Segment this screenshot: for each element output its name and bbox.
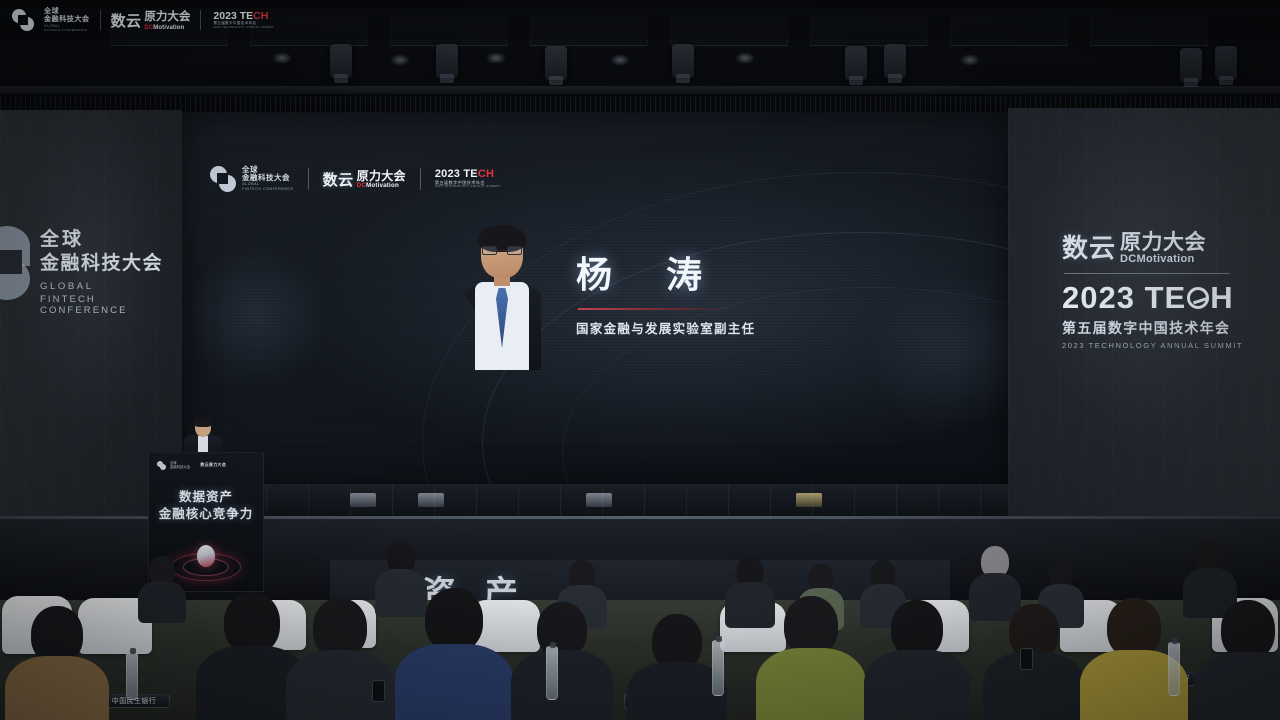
- gfc-logo-icon: [157, 461, 166, 470]
- broadcast-header-bug: 全球 金融科技大会 GLOBAL FINTECH CONFERENCE 数云 原…: [0, 0, 1280, 40]
- bezel-lamp: [586, 493, 612, 507]
- torso: [983, 652, 1085, 720]
- header-tech-logo: 2023 TECH 第五届数字中国技术年会 2023 TECHNOLOGY AN…: [213, 11, 274, 29]
- ceiling-lamp-glow: [390, 54, 410, 66]
- speaker-title: 国家金融与发展实验室副主任: [576, 318, 755, 337]
- screen-tech-year: 2023 TE: [435, 168, 478, 180]
- speaker-hair: [194, 417, 212, 427]
- truss-bar-lower: [0, 86, 1280, 94]
- divider: [200, 10, 201, 30]
- right-wall-branding: 数云 原力大会 DCMotivation 2023 TE H 第五届数字中国技术…: [1062, 228, 1262, 350]
- ceiling-lamp-glow: [272, 52, 292, 64]
- bezel-lamp-amber: [796, 493, 822, 507]
- screen-logo-lockup: 全球 金融科技大会 GLOBAL FINTECH CONFERENCE 数云 原…: [210, 166, 500, 192]
- head: [313, 598, 367, 658]
- header-dc-sub-red: DC: [144, 25, 153, 31]
- stage-spotlight-icon: [330, 44, 352, 78]
- header-dc-sub-white: Motivation: [153, 25, 184, 31]
- header-gfc-text: 全球 金融科技大会 GLOBAL FINTECH CONFERENCE: [44, 8, 90, 32]
- header-gfc-cn1: 全球: [44, 8, 90, 16]
- gfc-logo-icon: [12, 9, 34, 31]
- right-wall-en-motivation: DCMotivation: [1120, 254, 1206, 265]
- right-wall-tech-lockup: 2023 TE H: [1062, 280, 1262, 316]
- mobile-phone: [1020, 648, 1033, 670]
- gfc-logo-icon: [0, 226, 32, 300]
- divider: [100, 10, 101, 30]
- audience-member: [1204, 600, 1280, 720]
- torso: [1194, 652, 1280, 720]
- eyeglasses-icon: [482, 246, 522, 255]
- podium-logo-cn2: 金融科技大会: [170, 465, 190, 469]
- screen-dc-big: 原力大会: [357, 170, 406, 182]
- right-wall-cn-mark: 数云: [1062, 228, 1116, 265]
- left-wall-en-line2: FINTECH CONFERENCE: [40, 294, 176, 316]
- right-wall-cn-summit: 第五届数字中国技术年会: [1062, 318, 1262, 338]
- nebula-glow: [192, 232, 322, 402]
- header-tech-en: 2023 TECHNOLOGY ANNUAL SUMMIT: [213, 26, 274, 29]
- nameplate-rule: [578, 308, 736, 310]
- screen-dc-sub-red: DC: [357, 182, 366, 189]
- podium-logo-dc: 数云原力大会: [200, 462, 226, 468]
- stage-spotlight-icon: [1215, 46, 1237, 80]
- stage-spotlight-icon: [845, 46, 867, 80]
- head: [224, 592, 280, 654]
- stage-spotlight-icon: [672, 44, 694, 78]
- right-wall-tech-year: 2023 TE: [1062, 280, 1186, 316]
- stage-spotlight-icon: [545, 46, 567, 80]
- audience-member: [14, 606, 100, 720]
- torso: [5, 656, 109, 720]
- audience-member: [206, 592, 298, 720]
- water-bottle: [712, 640, 724, 696]
- torso: [138, 581, 186, 623]
- gfc-logo-icon: [210, 166, 236, 192]
- header-dc-logo: 数云 原力大会 DCMotivation: [111, 10, 191, 31]
- screen-speaker-portrait: [463, 228, 541, 370]
- header-dc-cn: 数云: [111, 10, 142, 31]
- left-wall-cn-line1: 全球: [40, 228, 176, 252]
- screen-dc-sub-white: Motivation: [366, 182, 399, 189]
- divider: [420, 168, 421, 190]
- podium-title-line1: 数据资产: [149, 489, 263, 506]
- speaker-name: 杨 涛: [576, 246, 755, 298]
- torso: [511, 650, 613, 720]
- ceiling-lamp-glow: [960, 54, 980, 66]
- head: [1221, 600, 1275, 660]
- right-wall-tech-year-tail: H: [1210, 280, 1233, 316]
- screen-bezel: [182, 484, 1008, 516]
- audience-member: [766, 596, 856, 720]
- right-wall-cn-big: 原力大会: [1120, 232, 1206, 253]
- audience-member: [520, 602, 604, 720]
- divider: [308, 168, 309, 190]
- stage-spotlight-icon: [1180, 48, 1202, 82]
- screen-tech-logo: 2023 TECH 第五届数字中国技术年会 2023 TECHNOLOGY AN…: [435, 169, 501, 188]
- ceiling-lamp-glow: [486, 52, 506, 64]
- screen-tech-en: 2023 TECHNOLOGY ANNUAL SUMMIT: [435, 185, 501, 188]
- conference-hall-scene: 全球 金融科技大会 GLOBAL FINTECH CONFERENCE 数云 原…: [0, 0, 1280, 720]
- left-wall-cn-line2: 金融科技大会: [40, 252, 176, 276]
- podium-logo-row: 全球 金融科技大会 数云原力大会: [157, 460, 255, 470]
- podium-title-line2: 金融核心竞争力: [149, 506, 263, 523]
- right-wall-en-summit: 2023 TECHNOLOGY ANNUAL SUMMIT: [1062, 341, 1262, 350]
- podium-title: 数据资产 金融核心竞争力: [149, 489, 263, 523]
- screen-dc-logo: 数云 原力大会 DCMotivation: [323, 169, 406, 190]
- ceiling-lamp-glow: [610, 54, 630, 66]
- mobile-phone: [372, 680, 385, 702]
- left-wall-en-line1: GLOBAL: [40, 281, 176, 292]
- audience-member: [636, 614, 718, 720]
- tech-c-monogram-icon: [1187, 287, 1209, 309]
- audience-member: [992, 604, 1076, 720]
- header-gfc-cn2: 金融科技大会: [44, 16, 90, 24]
- left-wall-branding: 全球 金融科技大会 GLOBAL FINTECH CONFERENCE: [0, 222, 176, 322]
- stage-spotlight-icon: [436, 44, 458, 78]
- header-dc-big: 原力大会: [144, 12, 190, 24]
- screen-gfc-cn2: 金融科技大会: [242, 174, 294, 182]
- water-bottle: [126, 652, 138, 700]
- audience-member: [874, 600, 960, 720]
- head: [1107, 598, 1161, 658]
- audience-member: [406, 588, 502, 720]
- head: [425, 588, 483, 652]
- header-gfc-en2: FINTECH CONFERENCE: [44, 29, 90, 32]
- bezel-lamp: [350, 493, 376, 507]
- water-bottle: [546, 646, 558, 700]
- orbit-sphere: [197, 545, 215, 567]
- torso: [395, 644, 513, 720]
- torso: [864, 650, 970, 720]
- bezel-lamp: [418, 493, 444, 507]
- screen-gfc-logo: 全球 金融科技大会 GLOBAL FINTECH CONFERENCE: [210, 166, 294, 192]
- audience-member: [1090, 598, 1178, 720]
- audience-member: [296, 598, 384, 720]
- torso: [756, 648, 866, 720]
- screen-tech-year-accent: CH: [478, 168, 494, 180]
- water-bottle: [1168, 642, 1180, 696]
- audience-member: [140, 556, 184, 620]
- screen-speaker-nameplate: 杨 涛 国家金融与发展实验室副主任: [576, 246, 755, 337]
- stage-spotlight-icon: [884, 44, 906, 78]
- ceiling-lamp-glow: [735, 52, 755, 64]
- screen-gfc-en2: FINTECH CONFERENCE: [242, 188, 294, 192]
- head: [784, 596, 838, 656]
- divider: [1064, 273, 1230, 274]
- screen-dc-cn: 数云: [323, 169, 354, 190]
